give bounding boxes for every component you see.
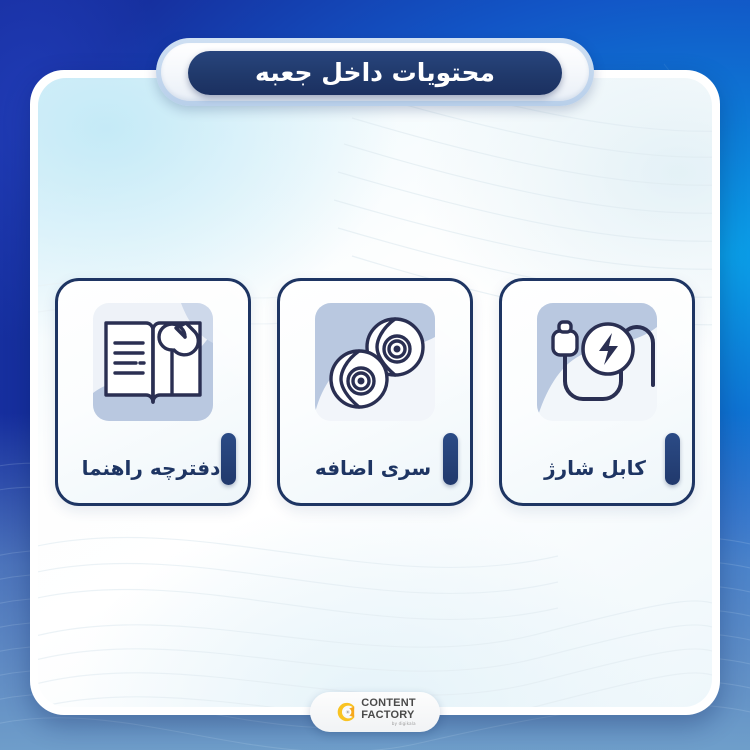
icon-area xyxy=(502,293,692,433)
brand-sub: by digikala xyxy=(361,722,416,726)
item-card-manual[interactable]: دفترچه راهنما xyxy=(55,278,251,506)
item-card-label: کابل شارژ xyxy=(512,455,678,481)
item-card-label: سری اضافه xyxy=(290,455,456,481)
brand-logo-text: CONTENT FACTORY by digikala xyxy=(361,698,416,726)
title-pill: محتویات داخل جعبه xyxy=(188,51,562,95)
icon-area xyxy=(58,293,248,433)
item-card-eartips[interactable]: سری اضافه xyxy=(277,278,473,506)
page-title: محتویات داخل جعبه xyxy=(255,51,495,95)
brand-line-1: CONTENT xyxy=(361,698,416,709)
brand-line-2: FACTORY xyxy=(361,710,416,721)
icon-area xyxy=(280,293,470,433)
items-row: دفترچه راهنما xyxy=(38,278,712,508)
content-factory-c-mark xyxy=(334,701,356,723)
charging-cable-bolt-icon xyxy=(529,297,665,429)
item-card-charging-cable[interactable]: کابل شارژ xyxy=(499,278,695,506)
brand-logo[interactable]: CONTENT FACTORY by digikala xyxy=(310,692,440,732)
poster-stage: محتویات داخل جعبه xyxy=(0,0,750,750)
extra-eartips-icon xyxy=(307,297,443,429)
item-card-label: دفترچه راهنما xyxy=(68,455,234,481)
manual-book-wrench-icon xyxy=(85,297,221,429)
